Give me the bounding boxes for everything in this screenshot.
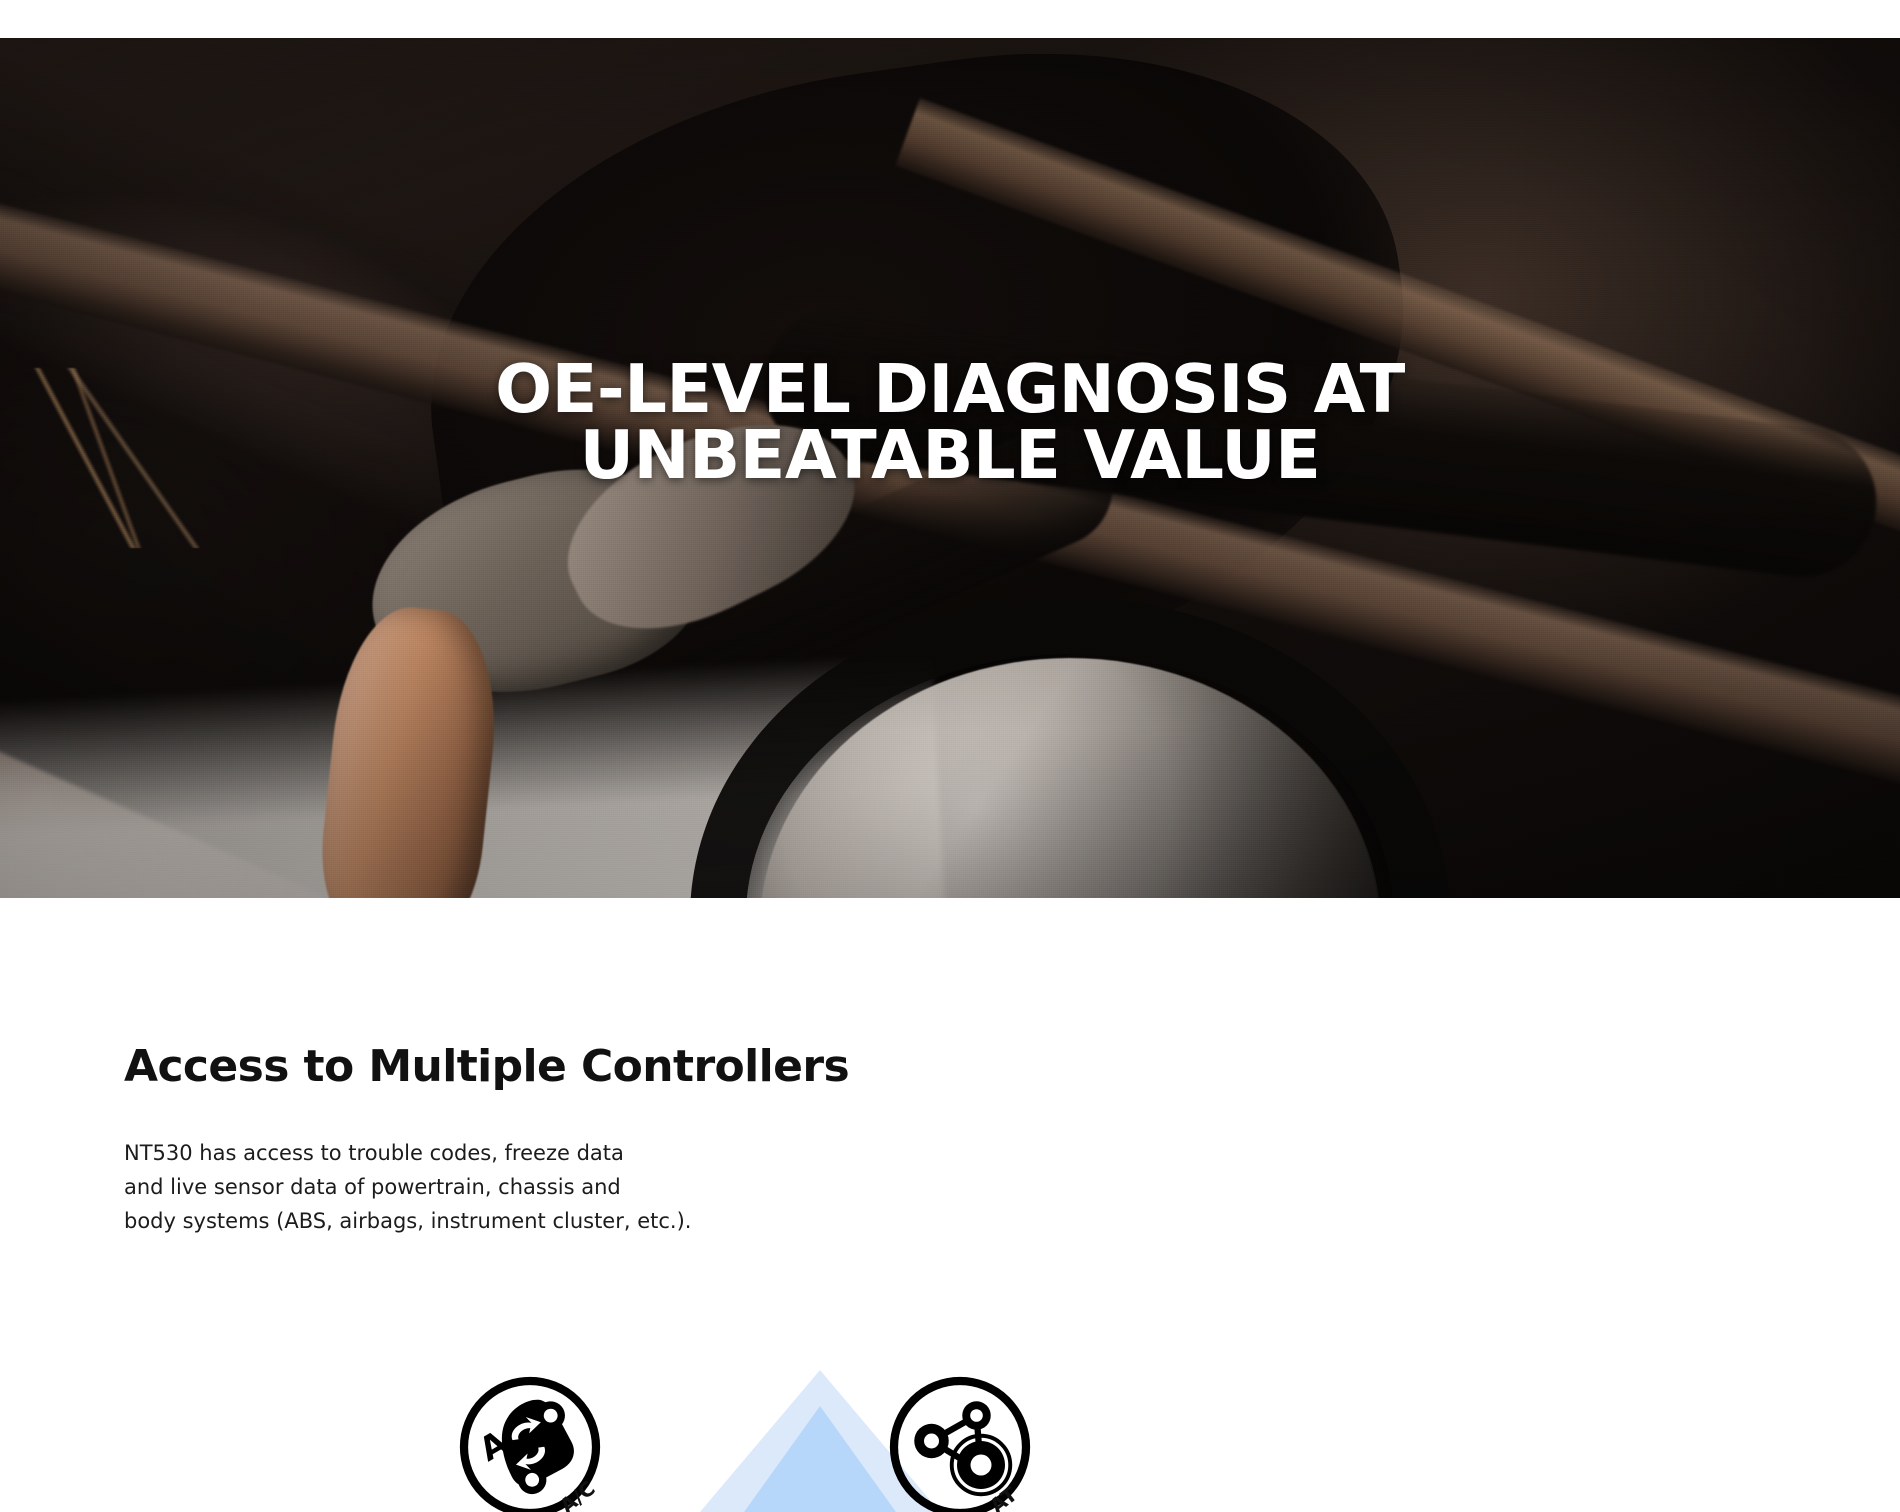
section-heading: Access to Multiple Controllers [124,1041,849,1092]
hero-title: OE-LEVEL DIAGNOSIS AT UNBEATABLE VALUE [0,356,1900,489]
triangle-inner-shape [744,1406,896,1512]
product-page: OE-LEVEL DIAGNOSIS AT UNBEATABLE VALUE A… [0,0,1900,1512]
section-body-text: NT530 has access to trouble codes, freez… [124,1136,691,1238]
hero-banner: OE-LEVEL DIAGNOSIS AT UNBEATABLE VALUE [0,38,1900,898]
